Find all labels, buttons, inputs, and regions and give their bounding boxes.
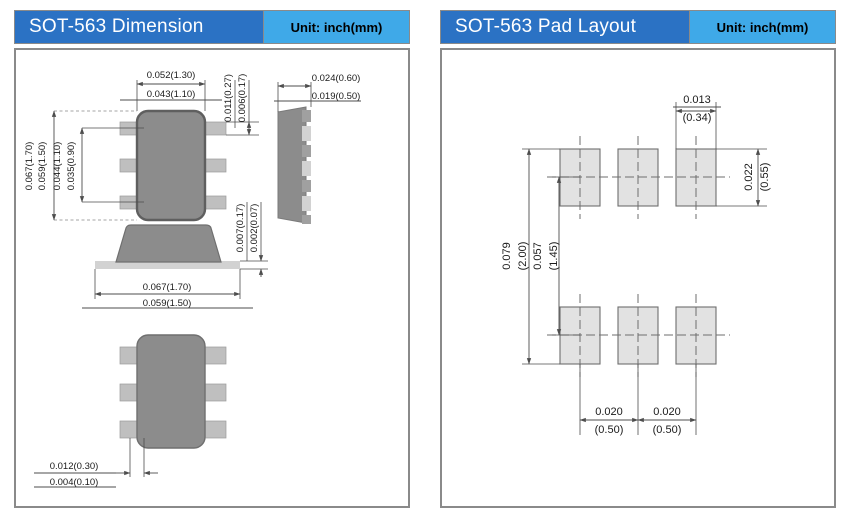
dim-pad-width-inch: 0.013	[683, 94, 711, 106]
dim-span-outer-mm: (2.00)	[517, 242, 529, 271]
pad-panel-title: SOT-563 Pad Layout	[441, 11, 689, 43]
dimension-panel-body: 0.052(1.30) 0.043(1.10) 0.067(1.70) 0.05…	[14, 48, 410, 508]
dim-pad-width-mm: (0.34)	[683, 112, 712, 124]
dimension-drawing: 0.052(1.30) 0.043(1.10) 0.067(1.70) 0.05…	[16, 50, 408, 506]
dim-body-length-max: 0.067(1.70)	[24, 142, 35, 191]
dim-lead-width-max: 0.011(0.27)	[223, 74, 234, 122]
front-view-body	[116, 225, 221, 262]
dimension-panel-title: SOT-563 Dimension	[15, 11, 263, 43]
dim-body-width-max: 0.052(1.30)	[147, 70, 196, 81]
dim-body-length-min: 0.059(1.50)	[37, 142, 48, 191]
dim-overall-width-max: 0.067(1.70)	[143, 282, 192, 293]
dim-overall-width-min: 0.059(1.50)	[143, 298, 192, 309]
side-view-leads	[302, 110, 311, 224]
front-view-width-dims: 0.067(1.70) 0.059(1.50)	[82, 269, 253, 309]
dim-lead-thickness-min: 0.004(0.10)	[50, 477, 99, 488]
panel-pad-layout: SOT-563 Pad Layout Unit: inch(mm)	[425, 0, 850, 520]
dim-pitch-left-inch: 0.020	[595, 406, 623, 418]
dim-lead-span-max: 0.044(1.10)	[52, 142, 63, 191]
pad-panel-header: SOT-563 Pad Layout Unit: inch(mm)	[440, 10, 836, 44]
dim-body-width-min: 0.043(1.10)	[147, 89, 196, 100]
bottom-view-body	[137, 335, 205, 448]
dimension-panel-header: SOT-563 Dimension Unit: inch(mm)	[14, 10, 410, 44]
top-view-width-dims: 0.052(1.30) 0.043(1.10)	[120, 70, 222, 111]
bottom-view-group: 0.012(0.30) 0.004(0.10)	[34, 335, 226, 488]
top-view-lead-width-dims: 0.011(0.27) 0.006(0.17)	[223, 74, 259, 135]
dim-pitch-right-inch: 0.020	[653, 406, 681, 418]
dimension-panel-unit-label: Unit: inch(mm)	[263, 11, 409, 43]
side-view-group: 0.024(0.60) 0.019(0.50)	[274, 73, 361, 224]
dim-lead-width-min: 0.006(0.17)	[237, 74, 248, 123]
dim-span-inner-mm: (1.45)	[548, 242, 560, 271]
dim-pad-height-inch: 0.022	[743, 163, 755, 191]
pad-width-dims: 0.013 (0.34)	[673, 94, 721, 149]
dim-standoff-max: 0.007(0.17)	[235, 204, 246, 253]
dim-pitch-left-mm: (0.50)	[595, 424, 624, 436]
top-view-group: 0.052(1.30) 0.043(1.10) 0.067(1.70) 0.05…	[24, 70, 259, 220]
dim-span-inner-inch: 0.057	[532, 242, 544, 270]
drawing-sheet: SOT-563 Dimension Unit: inch(mm)	[0, 0, 850, 520]
dim-lead-span-min: 0.035(0.90)	[66, 142, 77, 191]
dim-span-outer-inch: 0.079	[501, 242, 513, 270]
pad-layout-drawing: 0.020 (0.50) 0.020 (0.50) 0.013 (0.34)	[442, 50, 834, 506]
dim-side-thickness-max: 0.024(0.60)	[312, 73, 361, 84]
dim-pitch-right-mm: (0.50)	[653, 424, 682, 436]
pad-panel-unit-label: Unit: inch(mm)	[689, 11, 835, 43]
top-view-body	[137, 111, 205, 220]
dim-side-thickness-min: 0.019(0.50)	[312, 91, 361, 102]
dim-lead-thickness-max: 0.012(0.30)	[50, 461, 99, 472]
panel-dimension: SOT-563 Dimension Unit: inch(mm)	[0, 0, 425, 520]
dim-standoff-min: 0.002(0.07)	[249, 204, 260, 253]
dim-pad-height-mm: (0.55)	[759, 163, 771, 192]
side-view-thickness-dims: 0.024(0.60) 0.019(0.50)	[274, 73, 361, 112]
bottom-view-lead-thickness-dims: 0.012(0.30) 0.004(0.10)	[34, 438, 158, 488]
side-view-body	[278, 107, 306, 223]
pad-panel-body: 0.020 (0.50) 0.020 (0.50) 0.013 (0.34)	[440, 48, 836, 508]
